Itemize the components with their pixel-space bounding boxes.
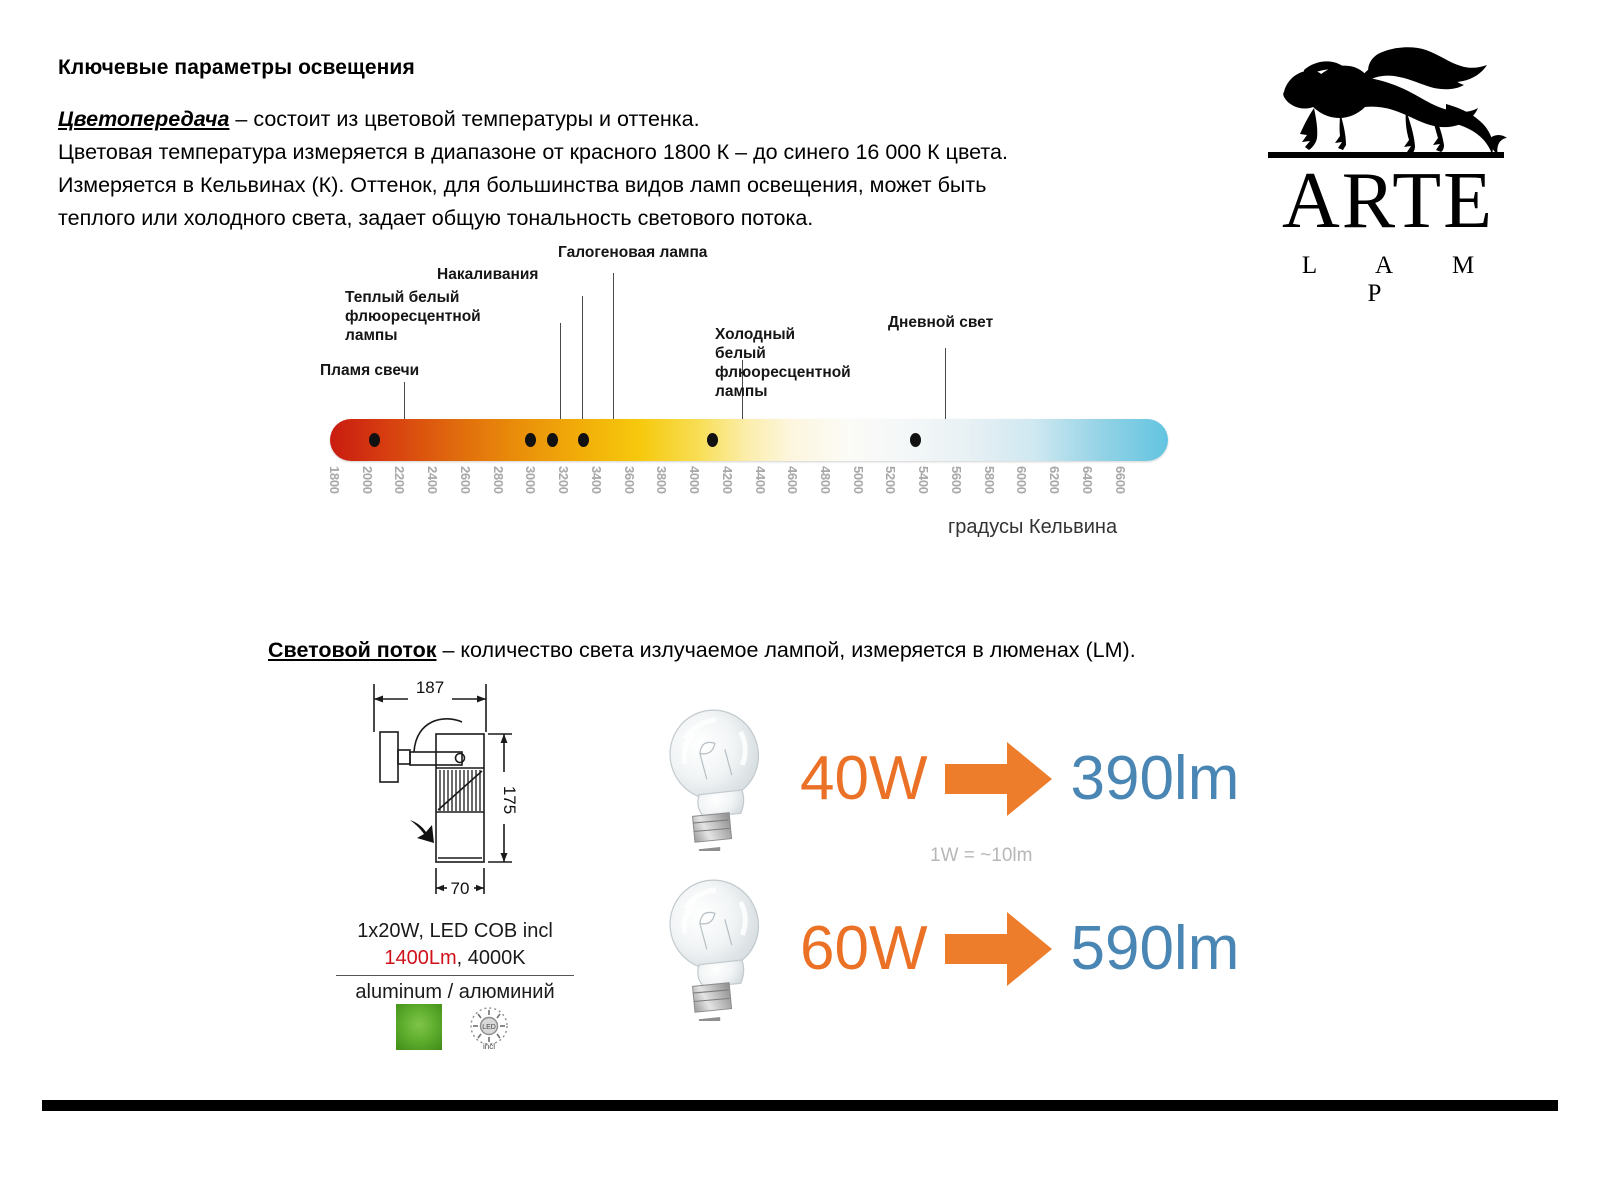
kelvin-tick-5800: 5800 — [982, 466, 997, 494]
comparison-row-60w: 60W 590lm — [630, 876, 1239, 1021]
kelvin-marker-2800 — [525, 433, 536, 447]
spec-power-line: 1x20W, LED COB incl — [330, 918, 580, 945]
kelvin-tick-5600: 5600 — [949, 466, 964, 494]
flux-rest: – количество света излучаемое лампой, из… — [437, 638, 1136, 662]
kelvin-tick-2400: 2400 — [425, 466, 440, 494]
term-color-rendering: Цветопередача — [58, 107, 229, 131]
dimension-width: 187 — [416, 678, 444, 697]
svg-text:incl: incl — [483, 1042, 495, 1051]
kelvin-tick-3600: 3600 — [622, 466, 637, 494]
kelvin-tick-2600: 2600 — [458, 466, 473, 494]
spec-divider — [336, 975, 574, 976]
kelvin-marker-4000 — [707, 433, 718, 447]
dimension-depth: 70 — [451, 879, 470, 898]
kelvin-marker-3200 — [578, 433, 589, 447]
intro-paragraph: Цветопередача – состоит из цветовой темп… — [58, 103, 1188, 235]
watt-to-lumen-ratio-note: 1W = ~10lm — [930, 845, 1032, 867]
spec-lumen-value: 1400Lm — [384, 947, 456, 969]
kelvin-tick-4200: 4200 — [720, 466, 735, 494]
kelvin-tick-4600: 4600 — [785, 466, 800, 494]
kelvin-tick-4800: 4800 — [818, 466, 833, 494]
leader-line — [404, 382, 405, 419]
kelvin-marker-1800 — [369, 433, 380, 447]
kelvin-tick-1800: 1800 — [327, 466, 342, 494]
kelvin-tick-labels: 1800200022002400260028003000320034003600… — [330, 466, 1168, 516]
kelvin-tick-3400: 3400 — [589, 466, 604, 494]
light-direction-arrow — [410, 820, 434, 843]
winged-lion-icon — [1266, 46, 1510, 156]
kelvin-label-warm-white: Теплый белый флюоресцентной лампы — [345, 288, 481, 345]
svg-text:LED: LED — [482, 1024, 496, 1031]
kelvin-marker-3000 — [547, 433, 558, 447]
arrow-right-icon — [941, 910, 1056, 988]
intro-line-4: теплого или холодного света, задает общу… — [58, 202, 1188, 235]
spec-cct-value: , 4000K — [457, 947, 526, 969]
dimension-height: 175 — [500, 786, 519, 814]
kelvin-tick-3800: 3800 — [654, 466, 669, 494]
kelvin-tick-2000: 2000 — [360, 466, 375, 494]
incandescent-bulb-icon — [630, 876, 790, 1021]
leader-line — [945, 348, 946, 419]
kelvin-label-incandescent: Накаливания — [437, 265, 538, 284]
logo-subwordmark: L A M P — [1262, 252, 1514, 308]
intro-line-1-rest: – состоит из цветовой температуры и отте… — [229, 107, 699, 131]
slide-root: Ключевые параметры освещения Цветопереда… — [0, 0, 1600, 1200]
watt-value-60: 60W — [800, 913, 927, 984]
kelvin-label-daylight: Дневной свет — [888, 313, 993, 332]
intro-line-2: Цветовая температура измеряется в диапаз… — [58, 136, 1188, 169]
leader-line — [582, 296, 583, 419]
leader-line — [560, 323, 561, 419]
kelvin-tick-6600: 6600 — [1113, 466, 1128, 494]
color-temperature-diagram: Пламя свечи Теплый белый флюоресцентной … — [300, 248, 1190, 548]
spec-lumen-line: 1400Lm, 4000K — [330, 945, 580, 972]
logo-wordmark: ARTE — [1262, 158, 1514, 244]
kelvin-marker-5200 — [910, 433, 921, 447]
kelvin-tick-4000: 4000 — [687, 466, 702, 494]
kelvin-tick-6200: 6200 — [1047, 466, 1062, 494]
spec-icon-row: LED incl — [330, 1002, 580, 1052]
intro-line-1: Цветопередача – состоит из цветовой темп… — [58, 103, 1188, 136]
product-specs: 1x20W, LED COB incl 1400Lm, 4000K alumin… — [330, 918, 580, 1006]
watt-value-40: 40W — [800, 743, 927, 814]
incandescent-bulb-icon — [630, 706, 790, 851]
kelvin-label-halogen: Галогеновая лампа — [558, 243, 707, 262]
leader-line — [613, 273, 614, 419]
kelvin-tick-3000: 3000 — [523, 466, 538, 494]
kelvin-axis-caption: градусы Кельвина — [948, 516, 1117, 539]
kelvin-gradient-bar — [330, 419, 1168, 461]
comparison-row-40w: 40W 390lm — [630, 706, 1239, 851]
kelvin-tick-5400: 5400 — [916, 466, 931, 494]
green-swatch-icon — [396, 1004, 442, 1050]
footer-rule — [42, 1100, 1558, 1111]
kelvin-label-cool-white: Холодный белый флюоресцентной лампы — [715, 325, 851, 401]
lumen-value-590: 590lm — [1070, 913, 1239, 984]
arte-lamp-logo: ARTE L A M P — [1262, 46, 1514, 286]
arrow-right-icon — [941, 740, 1056, 818]
kelvin-tick-4400: 4400 — [753, 466, 768, 494]
kelvin-tick-5200: 5200 — [883, 466, 898, 494]
product-dimension-drawing: 187 175 70 — [352, 672, 562, 902]
term-luminous-flux: Световой поток — [268, 638, 437, 662]
lumen-value-390: 390lm — [1070, 743, 1239, 814]
kelvin-tick-6400: 6400 — [1080, 466, 1095, 494]
kelvin-tick-3200: 3200 — [556, 466, 571, 494]
kelvin-tick-2800: 2800 — [491, 466, 506, 494]
intro-line-3: Измеряется в Кельвинах (К). Оттенок, для… — [58, 169, 1188, 202]
page-title: Ключевые параметры освещения — [58, 56, 415, 80]
kelvin-label-candle: Пламя свечи — [320, 361, 419, 380]
kelvin-tick-5000: 5000 — [851, 466, 866, 494]
led-incl-icon: LED incl — [464, 1002, 514, 1052]
flux-paragraph: Световой поток – количество света излуча… — [268, 638, 1136, 663]
kelvin-tick-6000: 6000 — [1014, 466, 1029, 494]
kelvin-tick-2200: 2200 — [392, 466, 407, 494]
